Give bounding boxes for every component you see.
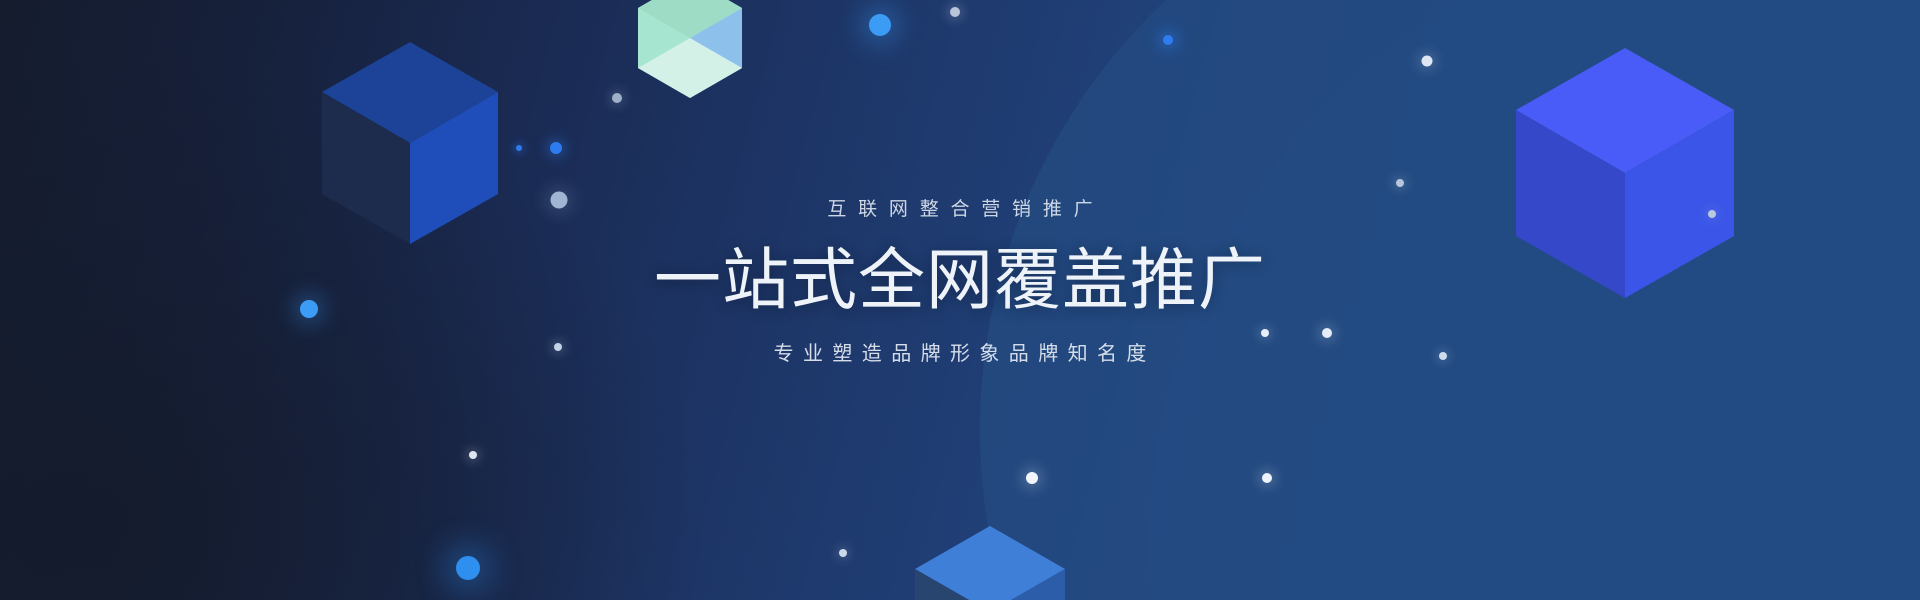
particle-dot xyxy=(1262,473,1272,483)
particle-dot xyxy=(551,192,568,209)
particle-dot xyxy=(516,145,522,151)
particle-dot xyxy=(950,7,960,17)
cube-blue-bottom-icon xyxy=(915,526,1065,600)
particle-dot xyxy=(1396,179,1404,187)
particle-dot xyxy=(1322,328,1332,338)
particle-dot xyxy=(612,93,622,103)
particle-dot xyxy=(554,343,562,351)
particle-dot xyxy=(550,142,562,154)
particle-dot xyxy=(1708,210,1716,218)
particle-dot xyxy=(869,14,891,36)
particle-dot xyxy=(1261,329,1269,337)
particle-dot xyxy=(1422,56,1433,67)
cube-indigo-right-icon xyxy=(1516,48,1734,298)
cube-blue-left-icon xyxy=(322,42,498,244)
particle-dot xyxy=(839,549,847,557)
particle-dot xyxy=(300,300,318,318)
particle-dot xyxy=(1163,35,1173,45)
hero-banner: 互联网整合营销推广 一站式全网覆盖推广 专业塑造品牌形象品牌知名度 xyxy=(0,0,1920,600)
particle-dot xyxy=(456,556,480,580)
swoosh-lower-shape xyxy=(980,0,1920,600)
particle-dot xyxy=(1439,352,1447,360)
particle-dot xyxy=(469,451,477,459)
particle-dot xyxy=(1026,472,1038,484)
cube-mint-top-icon xyxy=(638,0,742,98)
